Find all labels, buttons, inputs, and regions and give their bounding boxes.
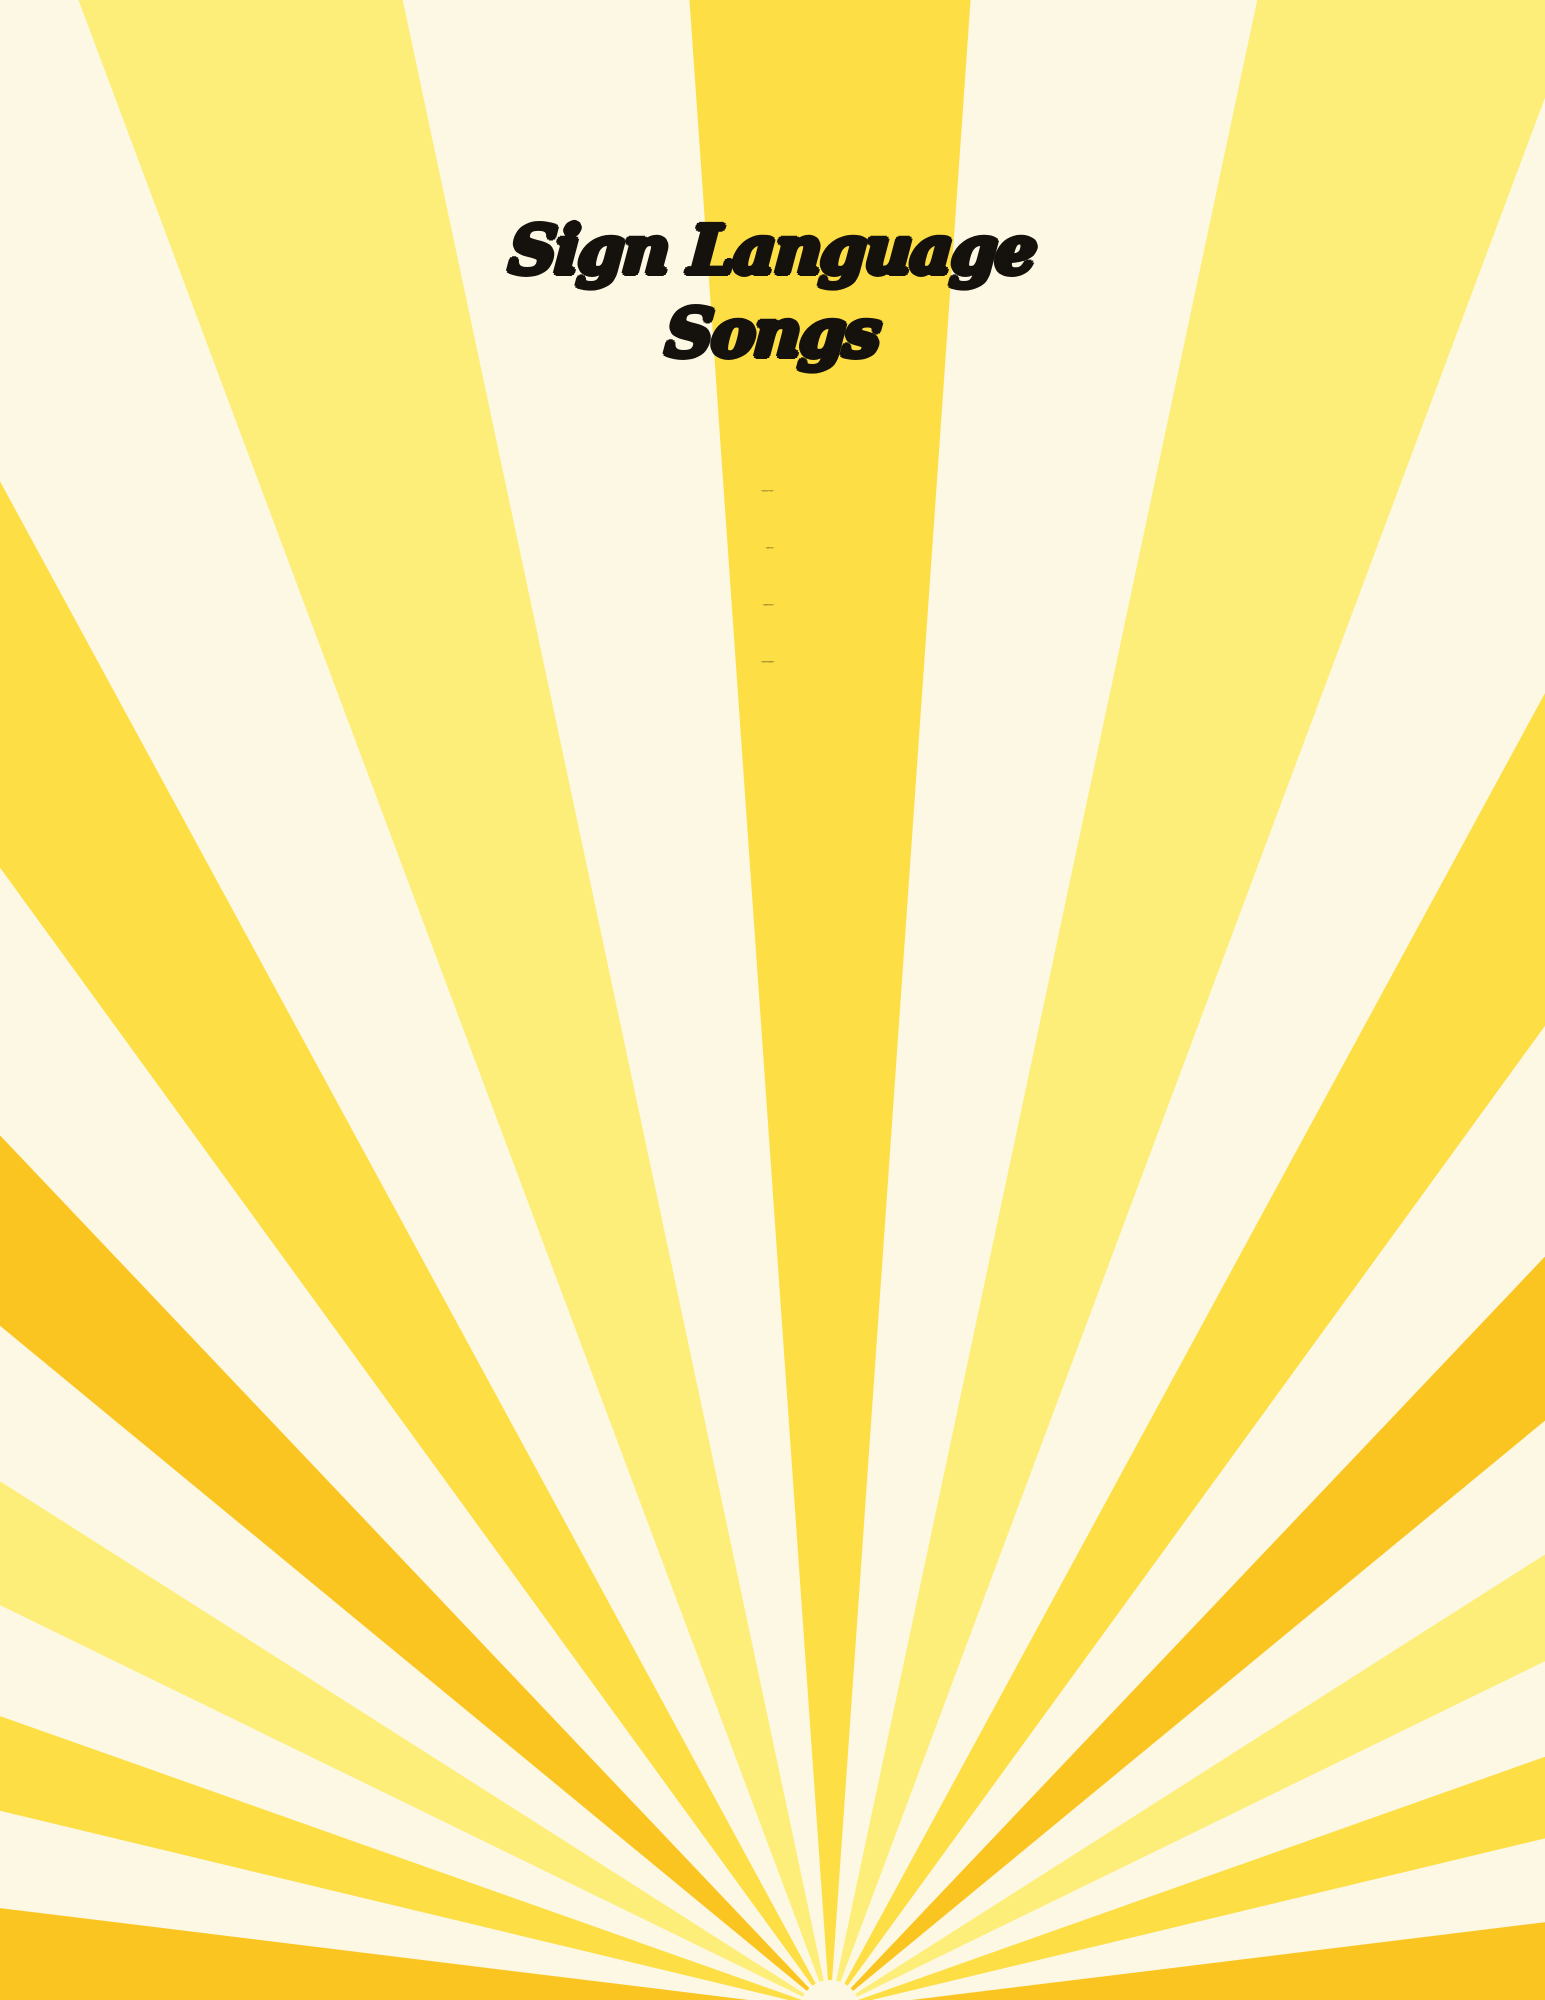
poster-canvas: Sign Language Songs Friday, June 9 and 2… <box>0 0 1545 2000</box>
title-line-1: Sign Language <box>0 218 1545 283</box>
poster-details: Friday, June 9 and 23 11:00-11:15am Birt… <box>0 491 1545 663</box>
detail-registration: Registration required <box>54 662 1491 663</box>
poster-content: Sign Language Songs Friday, June 9 and 2… <box>0 0 1545 2000</box>
detail-time: 11:00-11:15am <box>54 548 1491 549</box>
poster-title: Sign Language Songs <box>0 218 1545 365</box>
detail-audience: Birth-Age 6 w/adult <box>54 605 1491 606</box>
title-line-2: Songs <box>0 301 1545 366</box>
detail-date: Friday, June 9 and 23 <box>54 491 1491 492</box>
